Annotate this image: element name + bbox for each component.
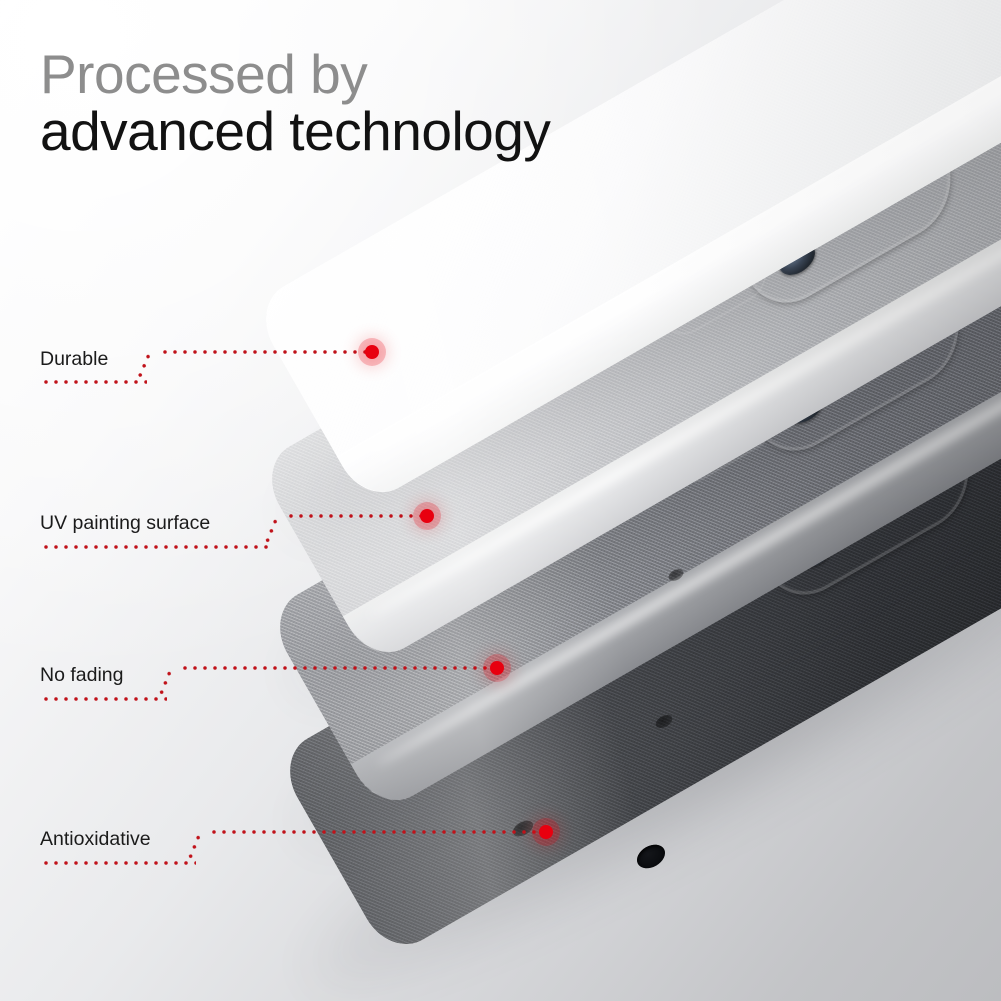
headline-line-1: Processed by — [40, 46, 550, 103]
headline: Processed by advanced technology — [40, 46, 550, 160]
callout-marker-dot[interactable] — [420, 509, 434, 523]
callout-leader-line — [160, 350, 366, 354]
callout-leader-line — [286, 514, 422, 518]
callout-label: UV painting surface — [40, 512, 210, 535]
callout-marker-dot[interactable] — [539, 825, 553, 839]
product-feature-image: NILLKIN NILLKIN — [0, 0, 1001, 1001]
callout-underline — [41, 545, 273, 549]
callout-label: Antioxidative — [40, 828, 151, 851]
headline-line-2: advanced technology — [40, 103, 550, 160]
callout-leader-line — [209, 830, 541, 834]
callout-underline — [41, 380, 147, 384]
callout-label: No fading — [40, 664, 123, 687]
callout-marker-dot[interactable] — [365, 345, 379, 359]
callout-label: Durable — [40, 348, 108, 371]
callout-underline — [41, 861, 196, 865]
callout-marker-dot[interactable] — [490, 661, 504, 675]
callout-leader-line — [180, 666, 492, 670]
callout-underline — [41, 697, 167, 701]
